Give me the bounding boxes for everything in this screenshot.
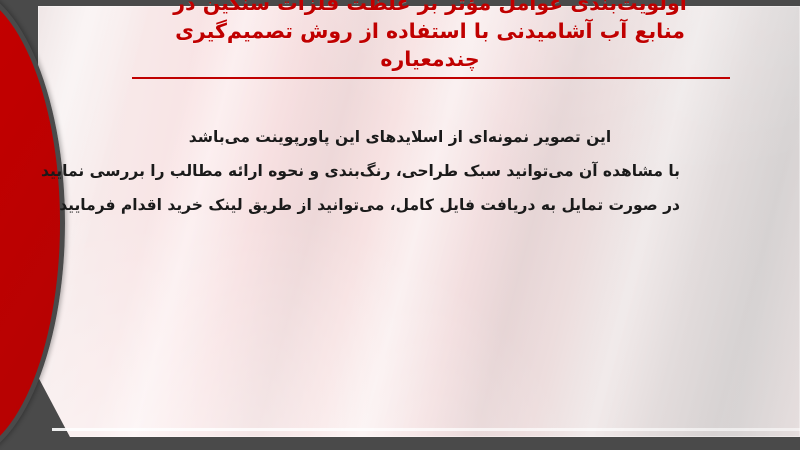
slide-body-text: این تصویر نمونه‌ای از اسلایدهای این پاور…: [120, 120, 680, 222]
slide-title: اولویت‌بندی عوامل مؤثر بر غلظت فلزات سنگ…: [110, 0, 750, 73]
presentation-slide: اولویت‌بندی عوامل مؤثر بر غلظت فلزات سنگ…: [0, 0, 800, 450]
title-underline-rule: [132, 77, 730, 79]
slide-title-line-2: منابع آب آشامیدنی با استفاده از روش تصمی…: [110, 17, 750, 45]
slide-title-line-3: چندمعیاره: [110, 45, 750, 73]
slide-body-line-3: در صورت تمایل به دریافت فایل کامل، می‌تو…: [120, 188, 680, 222]
slide-body-line-2: با مشاهده آن می‌توانید سبک طراحی، رنگ‌بن…: [120, 154, 680, 188]
slide-body-line-1: این تصویر نمونه‌ای از اسلایدهای این پاور…: [120, 120, 680, 154]
slide-title-line-1: اولویت‌بندی عوامل مؤثر بر غلظت فلزات سنگ…: [110, 0, 750, 17]
